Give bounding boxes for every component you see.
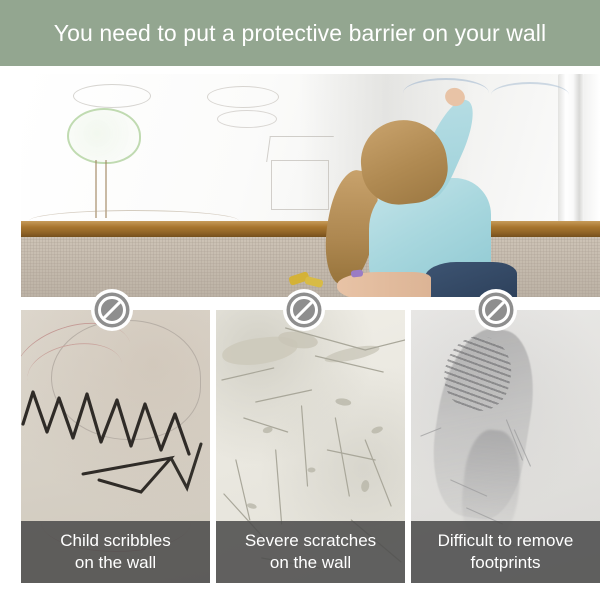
prohibition-icon: [474, 288, 518, 332]
crayon-tree-trunk: [95, 160, 107, 218]
prohibition-icon: [282, 288, 326, 332]
panel-caption: Difficult to remove footprints: [411, 521, 600, 583]
crayon-on-floor: [351, 269, 364, 277]
wooden-baseboard: [21, 221, 600, 238]
crayon-cloud-drawing: [217, 110, 277, 128]
panel-severe-scratches[interactable]: Severe scratches on the wall: [216, 310, 405, 583]
panel-caption: Child scribbles on the wall: [21, 521, 210, 583]
crayon-tree-drawing: [67, 108, 141, 164]
crayon-cloud-drawing: [207, 86, 279, 108]
panel-caption: Severe scratches on the wall: [216, 521, 405, 583]
header-banner: You need to put a protective barrier on …: [0, 0, 600, 66]
caption-line-2: on the wall: [75, 552, 156, 574]
caption-line-2: footprints: [471, 552, 541, 574]
crayon-blue-scribble: [491, 82, 569, 108]
crayon-house-roof: [266, 136, 334, 162]
panel-footprints[interactable]: Difficult to remove footprints: [411, 310, 600, 583]
caption-line-1: Child scribbles: [60, 530, 171, 552]
caption-line-1: Severe scratches: [245, 530, 376, 552]
crayon-house-drawing: [271, 160, 329, 210]
caption-line-1: Difficult to remove: [438, 530, 574, 552]
page-title: You need to put a protective barrier on …: [54, 20, 546, 47]
scribble-black-strokes: [21, 388, 210, 498]
door-frame-edge: [584, 74, 600, 230]
crayon-cloud-drawing: [73, 84, 151, 108]
panel-child-scribbles[interactable]: Child scribbles on the wall: [21, 310, 210, 583]
hero-image: [21, 74, 600, 297]
caption-line-2: on the wall: [270, 552, 351, 574]
problem-panels: Child scribbles on the wall: [21, 310, 600, 583]
prohibition-icon: [90, 288, 134, 332]
